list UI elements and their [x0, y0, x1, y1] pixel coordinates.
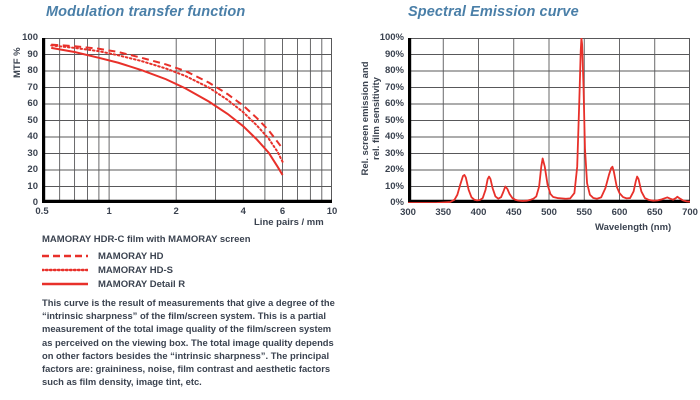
mtf-x-tick: 0.5	[27, 207, 57, 217]
mtf-plot-svg	[42, 38, 332, 203]
legend-row: MAMORAY HD-S	[42, 263, 332, 277]
mtf-y-tick: 40	[6, 132, 38, 142]
spectral-y-tick: 60%	[364, 99, 404, 109]
spectral-x-tick: 650	[638, 208, 672, 218]
spectral-plot-area	[408, 38, 690, 203]
spectral-x-tick: 350	[426, 208, 460, 218]
mtf-plot-area	[42, 38, 332, 203]
spectral-plot-svg	[408, 38, 690, 203]
legend-label: MAMORAY Detail R	[98, 279, 185, 290]
mtf-x-tick: 4	[228, 207, 258, 217]
legend-line-swatch-dashed	[42, 251, 88, 261]
legend-line-swatch-dotted	[42, 265, 88, 275]
mtf-x-tick: 2	[161, 207, 191, 217]
mtf-x-tick: 10	[317, 207, 347, 217]
legend-heading: MAMORAY HDR-C film with MAMORAY screen	[42, 234, 332, 245]
spectral-x-tick: 300	[391, 208, 425, 218]
mtf-chart-panel: Modulation transfer function MTF % 01020…	[0, 0, 350, 400]
mtf-y-tick: 60	[6, 99, 38, 109]
spectral-y-tick: 0%	[364, 198, 404, 208]
mtf-y-tick: 80	[6, 66, 38, 76]
spectral-y-tick: 100%	[364, 33, 404, 43]
mtf-y-tick: 90	[6, 50, 38, 60]
spectral-y-tick: 30%	[364, 149, 404, 159]
legend-row: MAMORAY HD	[42, 249, 332, 263]
legend-line-swatch-solid	[42, 279, 88, 289]
spectral-x-tick: 500	[532, 208, 566, 218]
mtf-series-0	[51, 45, 282, 149]
spectral-y-tick: 20%	[364, 165, 404, 175]
spectral-x-tick: 600	[603, 208, 637, 218]
mtf-series-2	[51, 48, 282, 175]
spectral-x-tick: 450	[497, 208, 531, 218]
mtf-x-tick: 1	[94, 207, 124, 217]
mtf-y-tick: 10	[6, 182, 38, 192]
spectral-y-tick: 10%	[364, 182, 404, 192]
spectral-y-tick: 40%	[364, 132, 404, 142]
spectral-y-tick: 50%	[364, 116, 404, 126]
mtf-x-tick: 6	[268, 207, 298, 217]
spectral-chart-title: Spectral Emission curve	[408, 4, 579, 20]
mtf-y-tick: 70	[6, 83, 38, 93]
mtf-x-axis-title: Line pairs / mm	[254, 217, 324, 228]
spectral-x-axis-title: Wavelength (nm)	[595, 222, 671, 233]
mtf-description-text: This curve is the result of measurements…	[42, 296, 342, 388]
spectral-y-tick: 80%	[364, 66, 404, 76]
legend-row: MAMORAY Detail R	[42, 277, 332, 291]
spectral-x-tick: 400	[462, 208, 496, 218]
spectral-x-tick: 700	[673, 208, 700, 218]
spectral-y-tick: 70%	[364, 83, 404, 93]
legend-label: MAMORAY HD-S	[98, 265, 173, 276]
mtf-y-tick: 30	[6, 149, 38, 159]
legend-label: MAMORAY HD	[98, 251, 163, 262]
mtf-y-tick: 20	[6, 165, 38, 175]
spectral-chart-panel: Spectral Emission curve Rel. screen emis…	[350, 0, 700, 400]
spectral-y-tick: 90%	[364, 50, 404, 60]
spectral-x-tick: 550	[567, 208, 601, 218]
mtf-y-tick: 100	[6, 33, 38, 43]
mtf-y-tick: 50	[6, 116, 38, 126]
mtf-legend: MAMORAY HDR-C film with MAMORAY screen M…	[42, 234, 332, 291]
mtf-chart-title: Modulation transfer function	[46, 4, 245, 20]
